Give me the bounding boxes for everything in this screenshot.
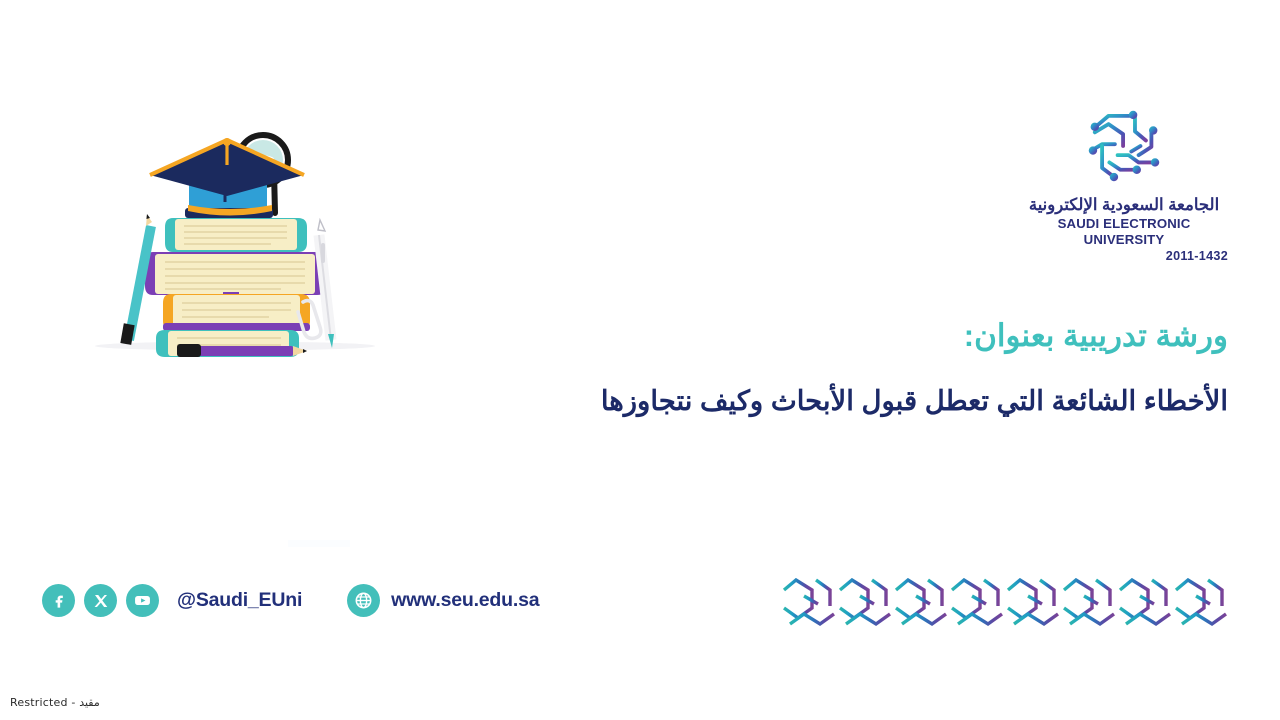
logo-name-english: SAUDI ELECTRONIC UNIVERSITY (1018, 216, 1230, 248)
logo-name-arabic: الجامعة السعودية الإلكترونية (1018, 196, 1230, 215)
hexagonal-circuit-node-emblem (1078, 104, 1170, 188)
social-handle: @Saudi_EUni (177, 589, 302, 612)
book-teal-top (165, 218, 307, 252)
logo-year: 2011-1432 (1018, 249, 1230, 263)
circuit-geometric-pattern-strip (782, 578, 1234, 633)
website-url: www.seu.edu.sa (391, 589, 539, 612)
workshop-main-title: الأخطاء الشائعة التي تعطل قبول الأبحاث و… (428, 382, 1228, 419)
workshop-eyebrow-title: ورشة تدريبية بعنوان: (428, 316, 1228, 356)
stack-of-books-with-graduation-cap-illustration (85, 118, 385, 363)
footer-contact-bar: @Saudi_EUni www.seu.edu.sa (42, 584, 539, 617)
slide-canvas: الجامعة السعودية الإلكترونية SAUDI ELECT… (0, 0, 1280, 720)
x-twitter-icon[interactable] (84, 584, 117, 617)
faint-watermark (288, 540, 350, 547)
title-group: ورشة تدريبية بعنوان: الأخطاء الشائعة الت… (428, 316, 1228, 419)
book-orange (163, 294, 310, 331)
globe-icon[interactable] (347, 584, 380, 617)
youtube-icon[interactable] (126, 584, 159, 617)
university-logo: الجامعة السعودية الإلكترونية SAUDI ELECT… (1018, 104, 1230, 263)
website-group[interactable]: www.seu.edu.sa (347, 584, 539, 617)
facebook-icon[interactable] (42, 584, 75, 617)
classification-label: Restricted - مقيد (10, 696, 100, 709)
book-purple (145, 252, 326, 295)
